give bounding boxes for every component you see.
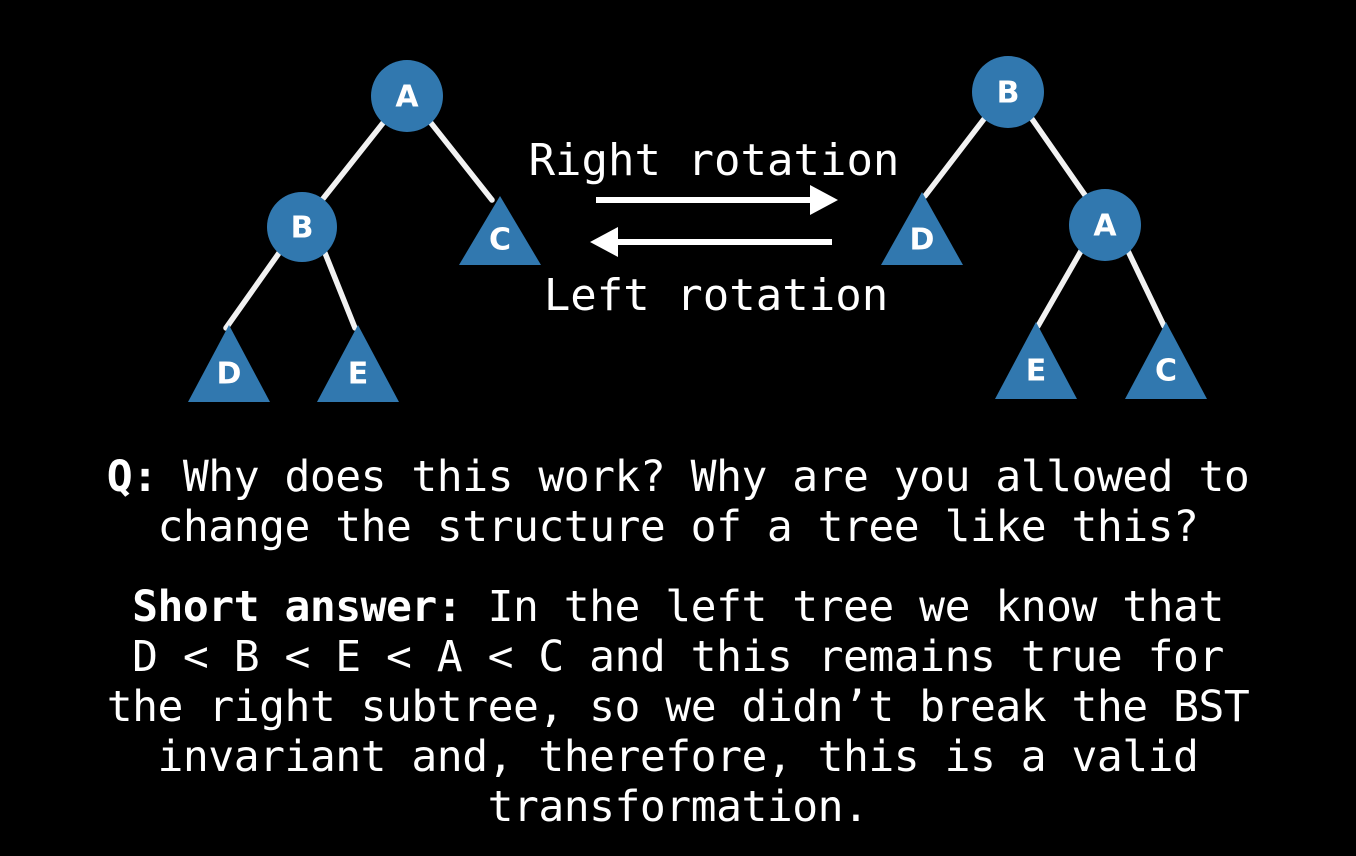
question-paragraph: Q: Why does this work? Why are you allow…	[0, 452, 1356, 552]
edge-left-B-D	[226, 253, 279, 328]
question-lead: Q:	[107, 452, 158, 502]
right-arrow-head	[810, 185, 838, 215]
question-line-2: change the structure of a tree like this…	[0, 502, 1356, 552]
edge-right-A-C	[1128, 251, 1164, 326]
triangle-label-E-right: E	[1026, 354, 1047, 389]
edge-right-B-A	[1032, 119, 1087, 198]
node-B-right: B	[972, 56, 1044, 128]
rotation-arrows: Right rotation Left rotation	[529, 135, 900, 321]
node-A-right: A	[1069, 189, 1141, 261]
answer-line-2: D < B < E < A < C and this remains true …	[0, 632, 1356, 682]
left-arrow-head	[590, 227, 618, 257]
right-tree: D E C B	[881, 56, 1207, 399]
edge-right-A-E	[1038, 251, 1081, 326]
explanation-text: Q: Why does this work? Why are you allow…	[0, 452, 1356, 832]
left-rotation-label: Left rotation	[544, 270, 888, 321]
left-subtree-D: D	[188, 325, 270, 402]
answer-line-1-rest: In the left tree we know that	[462, 582, 1224, 632]
question-line-1: Q: Why does this work? Why are you allow…	[0, 452, 1356, 502]
edge-left-A-B	[322, 123, 383, 200]
right-rotation-label: Right rotation	[529, 135, 900, 186]
right-subtree-D: D	[881, 192, 963, 265]
left-subtree-E: E	[317, 325, 399, 402]
answer-line-5: transformation.	[0, 782, 1356, 832]
left-subtree-C: C	[459, 196, 541, 265]
edge-left-A-C	[431, 123, 492, 200]
edge-right-B-D	[925, 119, 984, 196]
answer-line-3: the right subtree, so we didn’t break th…	[0, 682, 1356, 732]
node-label-A-left: A	[395, 80, 419, 115]
right-rotation-arrow	[596, 185, 838, 215]
left-rotation-arrow	[590, 227, 832, 257]
node-label-B-left: B	[291, 211, 314, 246]
answer-line-4: invariant and, therefore, this is a vali…	[0, 732, 1356, 782]
right-subtree-C: C	[1125, 322, 1207, 399]
left-tree: C D E A	[188, 60, 541, 402]
answer-paragraph: Short answer: In the left tree we know t…	[0, 582, 1356, 832]
triangle-label-E-left: E	[348, 357, 369, 392]
right-subtree-E: E	[995, 322, 1077, 399]
answer-line-1: Short answer: In the left tree we know t…	[0, 582, 1356, 632]
answer-lead: Short answer:	[132, 582, 462, 632]
node-B-left: B	[267, 192, 337, 262]
node-A-left: A	[371, 60, 443, 132]
slide-root: C D E A	[0, 0, 1356, 856]
triangle-label-D-right: D	[910, 223, 935, 258]
edge-left-B-E	[325, 253, 355, 328]
node-label-B-right: B	[997, 76, 1020, 111]
triangle-label-D-left: D	[217, 357, 242, 392]
question-line-1-rest: Why does this work? Why are you allowed …	[158, 452, 1250, 502]
triangle-label-C-right: C	[1155, 354, 1177, 389]
node-label-A-right: A	[1093, 209, 1117, 244]
triangle-label-C-left: C	[489, 223, 511, 258]
bst-rotation-diagram: C D E A	[0, 0, 1356, 440]
